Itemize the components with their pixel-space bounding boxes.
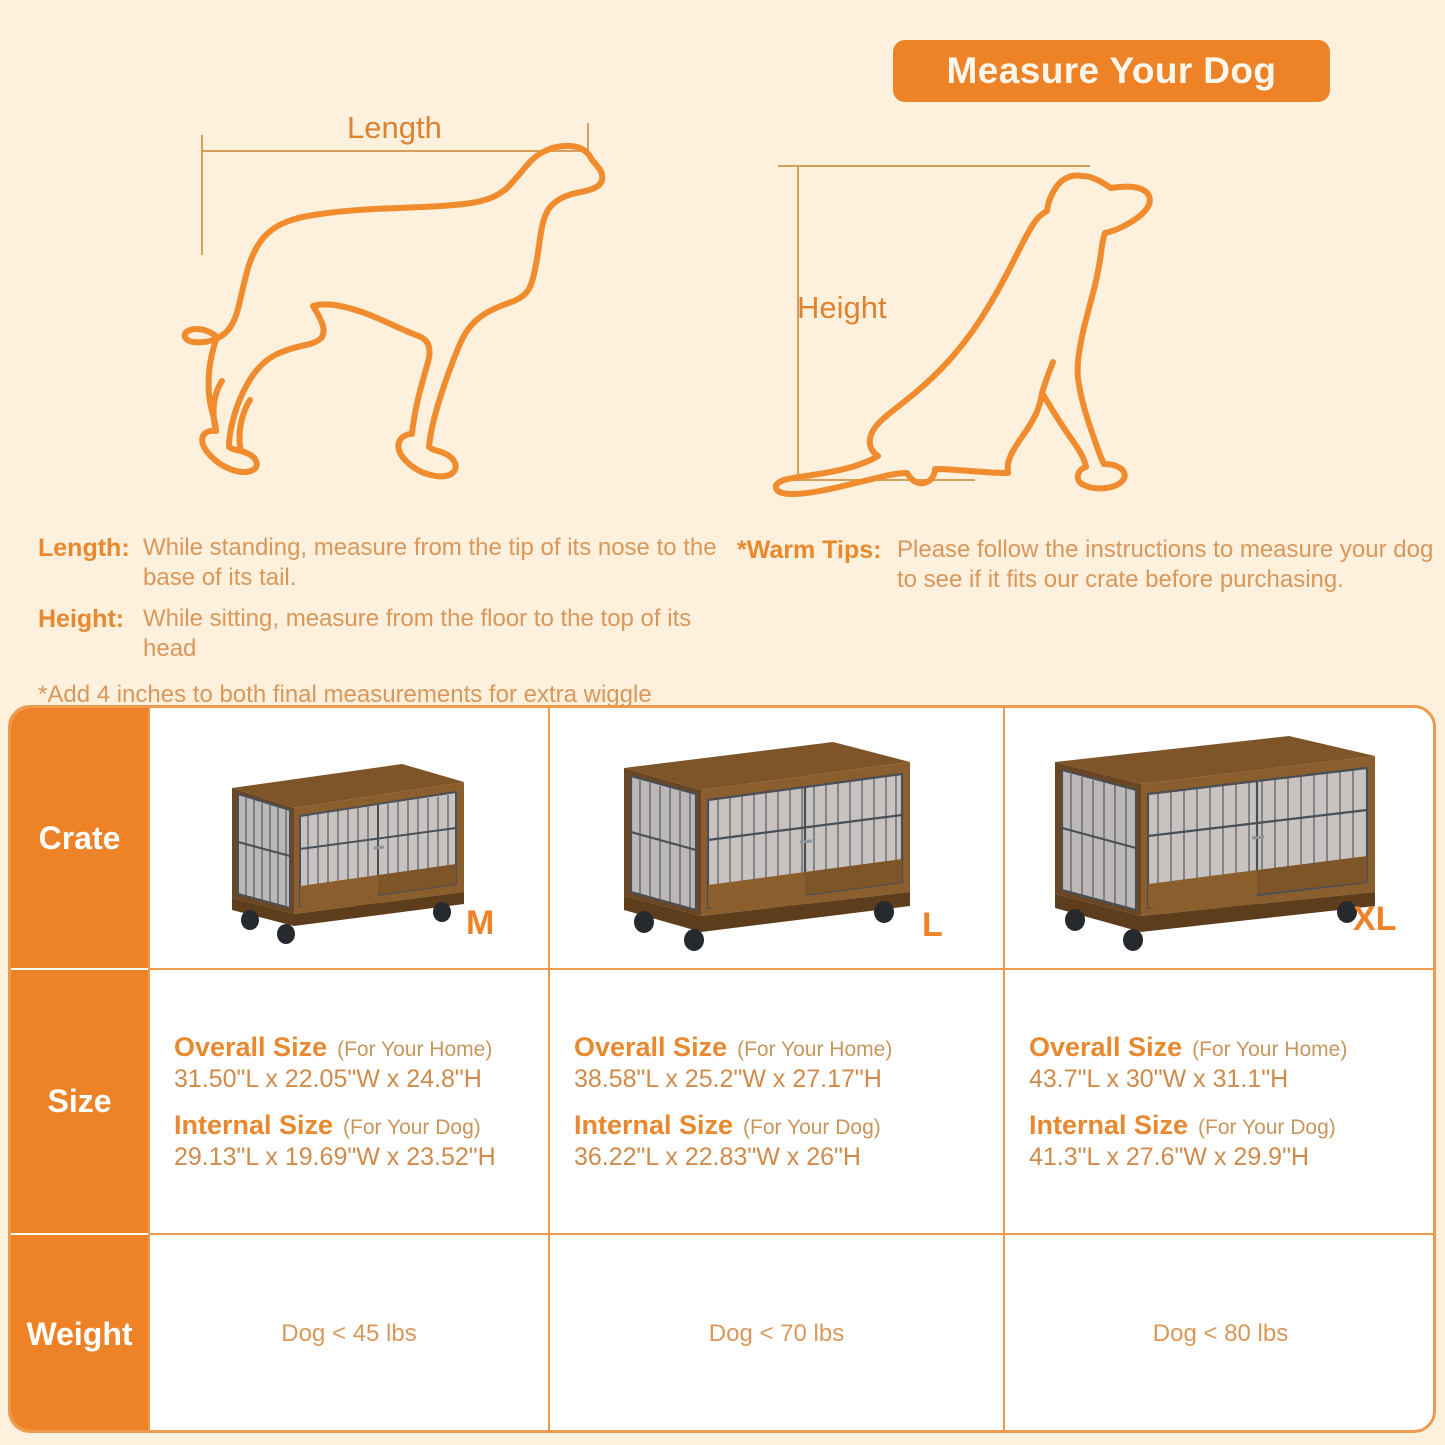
internal-size-value: 41.3"L x 27.6"W x 29.9"H [1029,1143,1309,1172]
internal-size-value: 36.22"L x 22.83"W x 26"H [574,1143,861,1172]
weight-cell-l: Dog < 70 lbs [548,1235,1003,1433]
standing-dog-outline-icon [140,105,640,505]
size-cell-m: Overall Size (For Your Home) 31.50"L x 2… [148,970,548,1235]
height-instruction-row: Height: While sitting, measure from the … [38,604,718,665]
overall-size-heading: Overall Size (For Your Home) [574,1032,892,1063]
weight-cell-m: Dog < 45 lbs [148,1235,548,1433]
overall-size-subtitle: (For Your Home) [1192,1038,1347,1062]
measure-your-dog-badge: Measure Your Dog [893,40,1330,102]
dog-crate-furniture-icon [202,736,472,951]
internal-size-heading: Internal Size (For Your Dog) [1029,1110,1336,1141]
badge-label: Measure Your Dog [947,50,1277,92]
row-label-size: Size [11,970,148,1235]
internal-size-heading: Internal Size (For Your Dog) [174,1110,481,1141]
height-measurement-label: Height [797,290,887,326]
weight-value: Dog < 70 lbs [709,1320,844,1348]
height-term: Height: [38,604,143,634]
overall-size-value: 43.7"L x 30"W x 31.1"H [1029,1065,1288,1094]
weight-value: Dog < 45 lbs [281,1320,416,1348]
internal-size-title: Internal Size [1029,1110,1188,1141]
internal-size-value: 29.13"L x 19.69"W x 23.52"H [174,1143,496,1172]
warm-tips-description: Please follow the instructions to measur… [897,535,1437,596]
overall-size-value: 38.58"L x 25.2"W x 27.17"H [574,1065,882,1094]
weight-value: Dog < 80 lbs [1153,1320,1288,1348]
length-measurement-label: Length [347,110,442,146]
size-cell-xl: Overall Size (For Your Home) 43.7"L x 30… [1003,970,1436,1235]
sitting-dog-outline-icon [760,150,1260,510]
overall-size-value: 31.50"L x 22.05"W x 24.8"H [174,1065,482,1094]
internal-size-subtitle: (For Your Dog) [343,1116,481,1140]
internal-size-title: Internal Size [574,1110,733,1141]
standing-dog-diagram [140,105,640,505]
overall-size-subtitle: (For Your Home) [337,1038,492,1062]
overall-size-title: Overall Size [174,1032,327,1063]
infographic-page: Measure Your Dog Length [0,0,1445,1445]
crate-cell-l: L [548,708,1003,970]
dog-crate-furniture-icon [1027,716,1397,956]
size-tag-xl: XL [1353,900,1396,939]
size-tag-m: M [466,904,494,943]
internal-size-subtitle: (For Your Dog) [743,1116,881,1140]
dog-crate-furniture-icon [598,720,928,955]
size-tag-l: L [922,906,943,945]
warm-tips: *Warm Tips: Please follow the instructio… [737,535,1437,606]
sitting-dog-diagram [760,150,1260,510]
row-label-crate: Crate [11,708,148,970]
height-description: While sitting, measure from the floor to… [143,604,718,665]
internal-size-title: Internal Size [174,1110,333,1141]
overall-size-subtitle: (For Your Home) [737,1038,892,1062]
internal-size-subtitle: (For Your Dog) [1198,1116,1336,1140]
internal-size-heading: Internal Size (For Your Dog) [574,1110,881,1141]
overall-size-heading: Overall Size (For Your Home) [1029,1032,1347,1063]
size-comparison-table: Crate [8,705,1436,1433]
weight-cell-xl: Dog < 80 lbs [1003,1235,1436,1433]
overall-size-heading: Overall Size (For Your Home) [174,1032,492,1063]
length-instruction-row: Length: While standing, measure from the… [38,533,718,594]
overall-size-title: Overall Size [574,1032,727,1063]
crate-cell-xl: XL [1003,708,1436,970]
size-cell-l: Overall Size (For Your Home) 38.58"L x 2… [548,970,1003,1235]
row-label-weight: Weight [11,1235,148,1433]
overall-size-title: Overall Size [1029,1032,1182,1063]
warm-tips-term: *Warm Tips: [737,535,897,565]
crate-cell-m: M [148,708,548,970]
warm-tips-row: *Warm Tips: Please follow the instructio… [737,535,1437,596]
length-description: While standing, measure from the tip of … [143,533,718,594]
length-term: Length: [38,533,143,563]
